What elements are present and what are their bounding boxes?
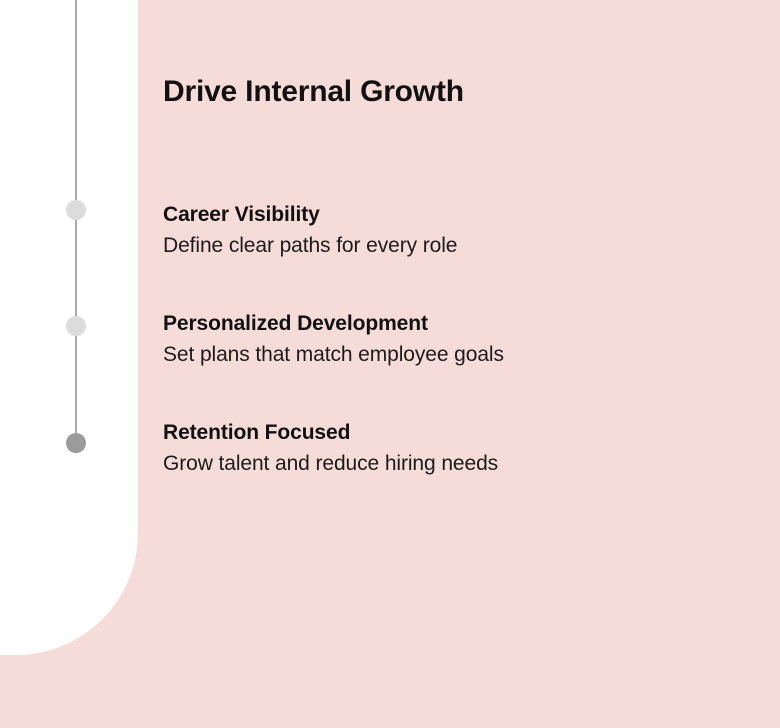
- feature-description: Set plans that match employee goals: [163, 339, 763, 371]
- timeline-dot-1[interactable]: [66, 200, 86, 220]
- feature-description: Grow talent and reduce hiring needs: [163, 448, 763, 480]
- timeline-rail: [0, 0, 138, 728]
- list-item: Personalized Development Set plans that …: [163, 309, 763, 371]
- content-column: Drive Internal Growth Career Visibility …: [163, 0, 763, 728]
- feature-heading: Retention Focused: [163, 418, 763, 448]
- timeline-dot-3[interactable]: [66, 433, 86, 453]
- list-item: Retention Focused Grow talent and reduce…: [163, 418, 763, 480]
- slide-canvas: Drive Internal Growth Career Visibility …: [0, 0, 780, 728]
- timeline-line: [75, 0, 77, 443]
- list-item: Career Visibility Define clear paths for…: [163, 200, 763, 262]
- feature-heading: Personalized Development: [163, 309, 763, 339]
- feature-description: Define clear paths for every role: [163, 230, 763, 262]
- timeline-dot-2[interactable]: [66, 316, 86, 336]
- feature-heading: Career Visibility: [163, 200, 763, 230]
- page-title: Drive Internal Growth: [163, 74, 464, 110]
